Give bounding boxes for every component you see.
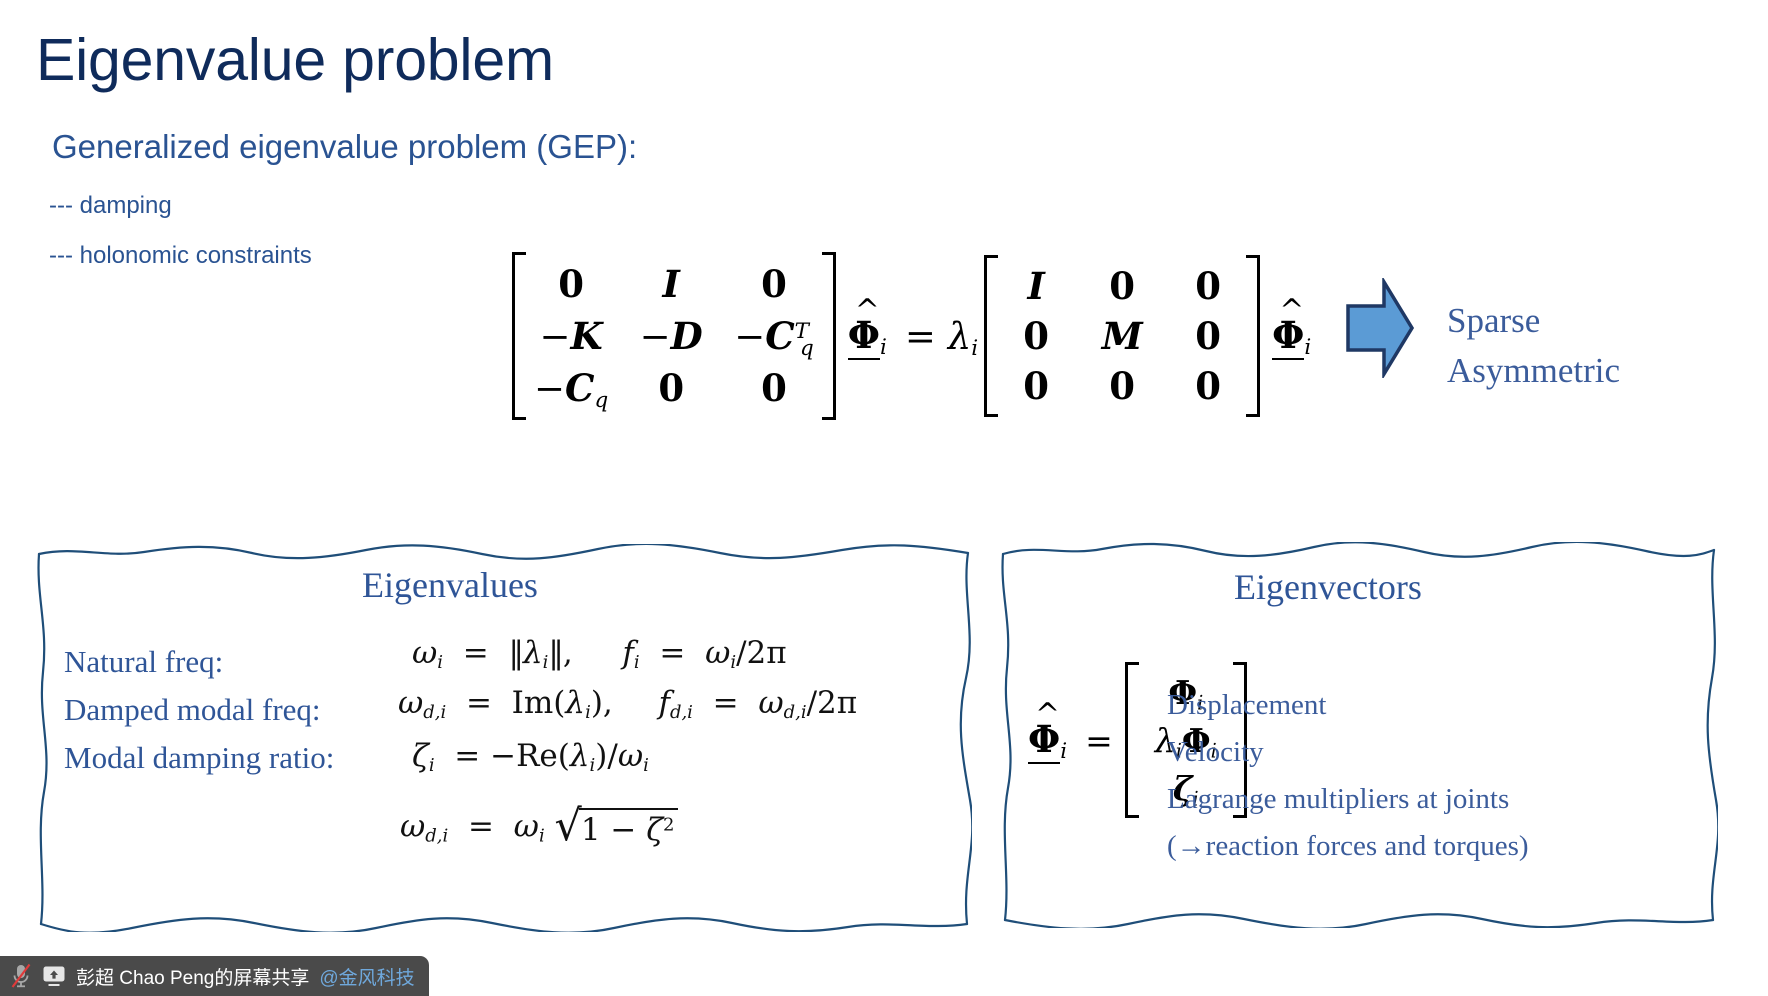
bracket-left-icon	[512, 252, 526, 420]
eigenvector-annotation-list: Displacement Velocity Lagrange multiplie…	[1167, 682, 1529, 870]
matrix-properties-callout: Sparse Asymmetric	[1447, 296, 1620, 395]
matrix-b-cell: I	[1028, 264, 1045, 308]
formula-damped-modal-freq: ωd,i = Im(λi), fd,i = ωd,i/2π	[398, 685, 857, 721]
annotation-displacement: Displacement	[1167, 682, 1529, 729]
square-root-icon: √ 1 − ζ2	[555, 808, 679, 848]
matrix-a-cell: I	[663, 262, 680, 306]
callout-line-asymmetric: Asymmetric	[1447, 346, 1620, 396]
lambda-scalar: λi	[948, 315, 978, 358]
generalized-eigenvalue-equation: 0 I 0 −K −D −CTq −Cq 0 0 ^ Φi = λi I	[512, 252, 1317, 420]
matrix-b-cell: 0	[1023, 364, 1049, 408]
screen-share-org: @金风科技	[319, 963, 414, 990]
matrix-b-cell: M	[1102, 314, 1143, 358]
matrix-b-cell: 0	[1195, 364, 1221, 408]
microphone-muted-icon[interactable]	[10, 963, 32, 989]
matrix-a-cell: 0	[558, 262, 584, 306]
formula-modal-damping-ratio: ζi = −Re(λi)/ωi	[412, 738, 649, 774]
eigenvalues-label-list: Natural freq: Damped modal freq: Modal d…	[64, 638, 334, 782]
bracket-right-icon	[1246, 255, 1260, 417]
matrix-b: I 0 0 0 M 0 0 0 0	[984, 255, 1260, 417]
annotation-reaction-forces: (→reaction forces and torques)	[1167, 823, 1529, 870]
eigenvalues-panel-title: Eigenvalues	[362, 564, 538, 606]
equals-sign: =	[905, 315, 936, 358]
formula-damped-freq-sqrt: ωd,i = ωi √ 1 − ζ2	[400, 808, 678, 848]
zoom-share-toolbar[interactable]: 彭超 Chao Peng的屏幕共享 @金风科技	[0, 956, 429, 996]
formula-natural-freq: ωi = ‖λi‖, fi = ωi/2π	[412, 635, 787, 671]
label-modal-damping-ratio: Modal damping ratio:	[64, 734, 334, 782]
bracket-left-icon	[984, 255, 998, 417]
matrix-a: 0 I 0 −K −D −CTq −Cq 0 0	[512, 252, 836, 420]
eigenvectors-panel-title: Eigenvectors	[1234, 566, 1422, 608]
eigenvector-symbol-rhs: ^ Φi	[1272, 313, 1311, 360]
matrix-b-cell: 0	[1195, 314, 1221, 358]
bracket-left-icon	[1125, 662, 1139, 818]
annotation-velocity: Velocity	[1167, 729, 1529, 776]
matrix-a-cell: 0	[658, 366, 684, 410]
annotation-lagrange-multipliers: Lagrange multipliers at joints	[1167, 776, 1529, 823]
matrix-b-cell: 0	[1109, 364, 1135, 408]
matrix-a-cell: 0	[761, 366, 787, 410]
matrix-b-cell: 0	[1023, 314, 1049, 358]
matrix-b-cell: 0	[1109, 264, 1135, 308]
callout-line-sparse: Sparse	[1447, 296, 1620, 346]
bullet-damping: --- damping	[49, 192, 172, 220]
label-natural-freq: Natural freq:	[64, 638, 334, 686]
matrix-a-cell: −D	[640, 314, 703, 358]
equals-sign: =	[1085, 721, 1113, 760]
matrix-a-cell: 0	[761, 262, 787, 306]
slide-canvas: Eigenvalue problem Generalized eigenvalu…	[0, 0, 1768, 996]
eigenvector-symbol-lhs: ^ Φi	[1028, 717, 1067, 764]
bracket-right-icon	[822, 252, 836, 420]
matrix-a-cell: −K	[540, 314, 603, 358]
label-damped-modal-freq: Damped modal freq:	[64, 686, 334, 734]
page-title: Eigenvalue problem	[36, 26, 554, 94]
right-block-arrow-icon	[1344, 278, 1416, 378]
matrix-b-cell: 0	[1195, 264, 1221, 308]
eigenvector-symbol-lhs: ^ Φi	[848, 313, 887, 360]
matrix-a-cell: −Cq	[534, 366, 608, 410]
matrix-a-cell: −CTq	[734, 314, 814, 358]
screen-share-label: 彭超 Chao Peng的屏幕共享	[76, 963, 309, 990]
subheading: Generalized eigenvalue problem (GEP):	[52, 128, 637, 166]
screen-share-icon[interactable]	[42, 965, 66, 987]
bullet-holonomic-constraints: --- holonomic constraints	[49, 242, 312, 270]
